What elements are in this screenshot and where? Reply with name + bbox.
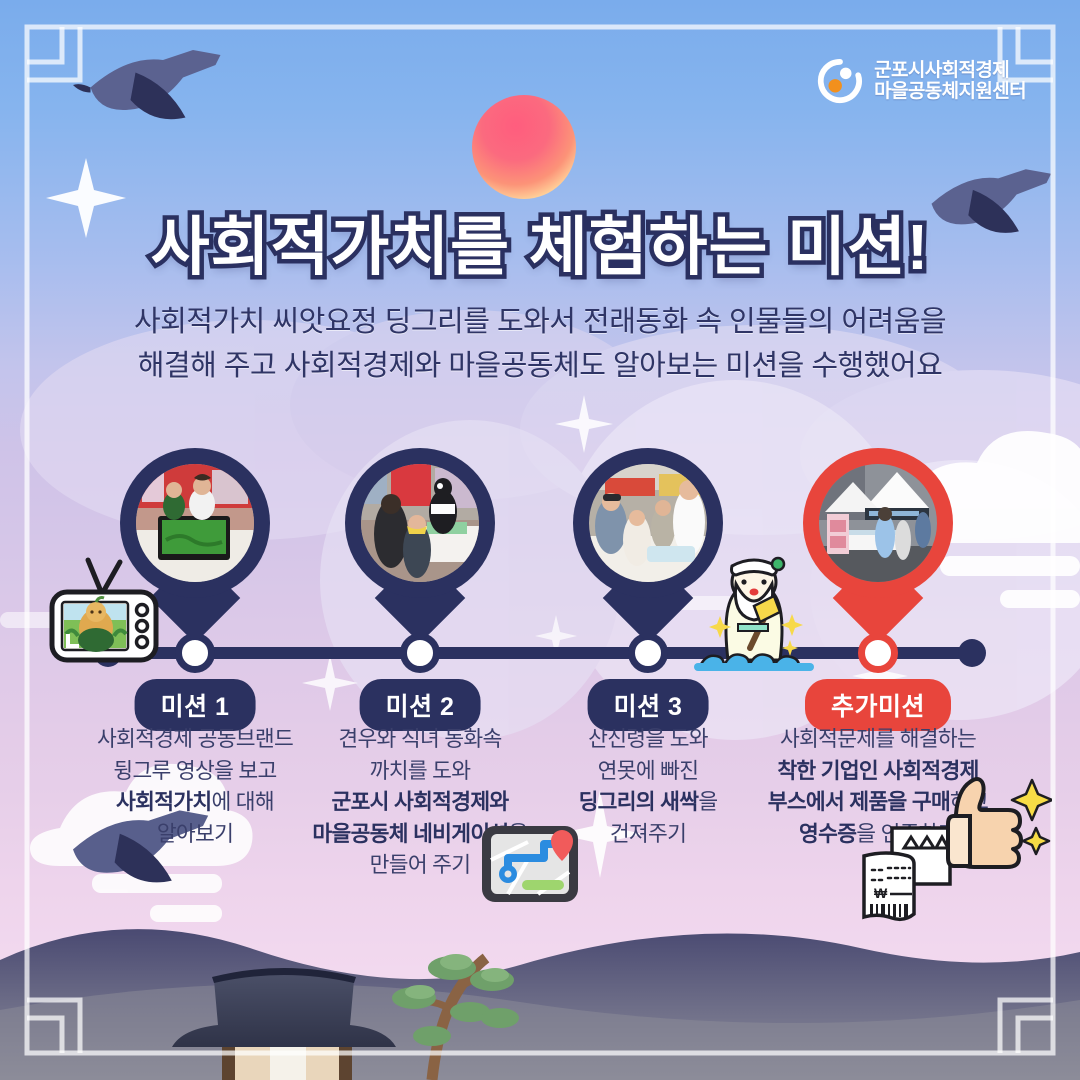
mountain-spirit-character bbox=[694, 548, 814, 674]
page-subtitle: 사회적가치 씨앗요정 딩그리를 도와서 전래동화 속 인물들의 어려움을 해결해… bbox=[0, 300, 1080, 388]
logo-line-2: 마을공동체지원센터 bbox=[874, 81, 1026, 102]
page-title: 사회적가치를 체험하는 미션! bbox=[0, 196, 1080, 288]
retro-tv-icon bbox=[44, 548, 164, 666]
svg-text:₩: ₩ bbox=[874, 885, 888, 901]
caption-emphasis: 군포시 사회적경제와 bbox=[332, 790, 509, 814]
thumbs-up-icon bbox=[940, 770, 1052, 878]
caption-emphasis: 딩그리의 새싹 bbox=[579, 790, 699, 814]
caption-emphasis: 사회적가치 bbox=[116, 790, 211, 814]
caption-suffix: 에 대해 bbox=[211, 790, 274, 814]
magpie-character-booth-photo bbox=[361, 464, 479, 582]
pin-bubble bbox=[803, 448, 953, 598]
circle-dot-logo-icon bbox=[817, 58, 863, 104]
caption-line: 사회적문제를 해결하는 bbox=[728, 724, 1028, 756]
timeline-rail bbox=[108, 647, 972, 659]
extra-mission-pin[interactable] bbox=[803, 448, 953, 598]
landscape-group bbox=[0, 929, 1080, 1080]
subtitle-line-2: 해결해 주고 사회적경제와 마을공동체도 알아보는 미션을 수행했어요 bbox=[0, 344, 1080, 388]
pond-sprout-booth-photo bbox=[589, 464, 707, 582]
poster-canvas: 군포시사회적경제 마을공동체지원센터 사회적가치를 체험하는 미션! 사회적가치… bbox=[0, 0, 1080, 1080]
sun-icon bbox=[472, 95, 576, 199]
caption-emphasis: 부스에서 제품을 구매 bbox=[768, 790, 950, 814]
market-booth-tents-photo bbox=[819, 464, 937, 582]
mission-pin-2[interactable] bbox=[345, 448, 495, 598]
rail-cap-right bbox=[958, 639, 986, 667]
logo-line-1: 군포시사회적경제 bbox=[874, 60, 1026, 81]
pin-bubble bbox=[345, 448, 495, 598]
caption-suffix: 을 bbox=[698, 790, 717, 814]
organization-logo: 군포시사회적경제 마을공동체지원센터 bbox=[817, 58, 1026, 104]
gps-navigation-icon bbox=[478, 822, 582, 906]
caption-emphasis: 영수증 bbox=[799, 822, 856, 846]
subtitle-line-1: 사회적가치 씨앗요정 딩그리를 도와서 전래동화 속 인물들의 어려움을 bbox=[0, 300, 1080, 344]
